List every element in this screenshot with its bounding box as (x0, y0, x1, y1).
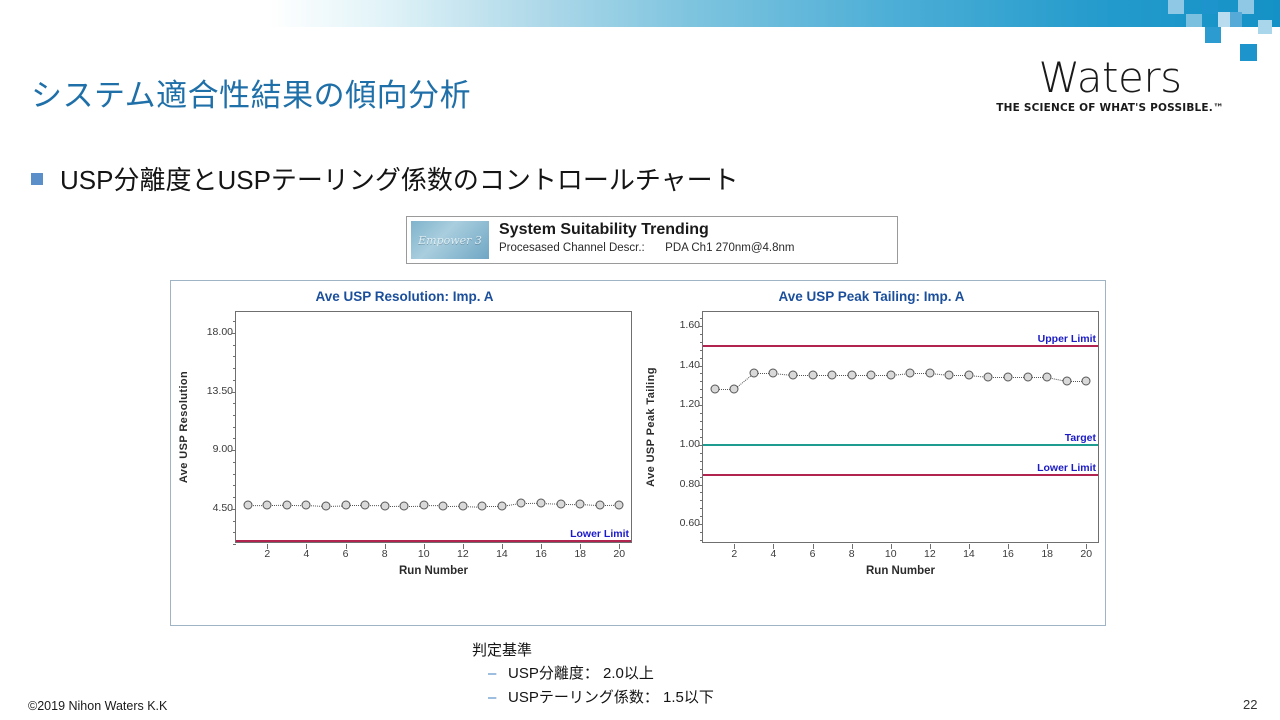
charts-container: Ave USP Resolution: Imp. A Ave USP Resol… (170, 280, 1106, 626)
y-axis-tick-mark (698, 485, 703, 486)
x-axis-tick-label: 4 (770, 548, 776, 560)
plot-area-wrapper: Ave USP Peak Tailing 0.600.801.001.201.4… (638, 311, 1105, 625)
y-axis-minor-tick (700, 461, 703, 462)
y-axis-tick-label: 1.00 (680, 438, 700, 450)
banner-pixel (1258, 20, 1272, 34)
y-axis-minor-tick (233, 462, 236, 463)
y-axis-label: Ave USP Resolution (175, 311, 193, 543)
data-point (615, 501, 624, 510)
y-axis-minor-tick (233, 532, 236, 533)
y-axis-minor-tick (233, 403, 236, 404)
report-header-text: System Suitability Trending Procesased C… (489, 217, 794, 263)
x-axis-tick-label: 20 (1080, 548, 1092, 560)
data-point (867, 371, 876, 380)
x-axis-tick-mark (969, 544, 970, 549)
x-axis-tick-mark (541, 544, 542, 549)
x-axis-tick-label: 6 (810, 548, 816, 560)
reference-line-label: Lower Limit (1037, 462, 1096, 474)
y-axis-minor-tick (700, 334, 703, 335)
data-point (321, 501, 330, 510)
x-axis-tick-label: 8 (382, 548, 388, 560)
y-axis-minor-tick (233, 345, 236, 346)
banner-pixel (1186, 14, 1202, 27)
y-axis-minor-tick (233, 427, 236, 428)
page-number: 22 (1243, 697, 1257, 712)
banner-pixel (1202, 0, 1218, 14)
dash-bullet-icon: – (488, 686, 508, 710)
y-axis-minor-tick (233, 497, 236, 498)
reference-line-lower-limit (703, 474, 1098, 476)
data-point (788, 371, 797, 380)
data-point (769, 369, 778, 378)
y-axis-minor-tick (233, 415, 236, 416)
data-point (1043, 373, 1052, 382)
banner-pixel (1168, 0, 1184, 14)
data-point (906, 369, 915, 378)
reference-line-upper-limit (703, 345, 1098, 347)
y-axis-tick-mark (231, 392, 236, 393)
plot-area-wrapper: Ave USP Resolution 4.509.0013.5018.00 Lo… (171, 311, 638, 625)
y-axis-minor-tick (700, 318, 703, 319)
x-axis-tick-label: 10 (885, 548, 897, 560)
y-axis-tick-label: 1.40 (680, 359, 700, 371)
y-axis-minor-tick (700, 342, 703, 343)
y-axis-tick-mark (698, 326, 703, 327)
data-point (282, 500, 291, 509)
x-axis-tick-mark (813, 544, 814, 549)
y-axis-tick-mark (698, 405, 703, 406)
y-axis-tick-label: 13.50 (207, 385, 233, 397)
y-axis-ticks: 0.600.801.001.201.401.60 (660, 311, 700, 543)
x-axis-tick-mark (1008, 544, 1009, 549)
y-axis-minor-tick (700, 397, 703, 398)
y-axis-minor-tick (233, 380, 236, 381)
x-axis-tick-label: 6 (343, 548, 349, 560)
data-point (419, 501, 428, 510)
y-axis-minor-tick (233, 485, 236, 486)
data-point (925, 369, 934, 378)
data-point (710, 385, 719, 394)
chart-ave-usp-peak-tailing: Ave USP Peak Tailing: Imp. A Ave USP Pea… (638, 281, 1105, 625)
reference-line-target (703, 444, 1098, 446)
y-axis-tick-label: 1.60 (680, 319, 700, 331)
data-point (517, 499, 526, 508)
data-point (1004, 373, 1013, 382)
reference-line-lower-limit (236, 540, 631, 542)
reference-line-label: Target (1065, 432, 1096, 444)
processed-channel-value: PDA Ch1 270nm@4.8nm (665, 242, 794, 254)
data-point (302, 500, 311, 509)
waters-tagline: THE SCIENCE OF WHAT'S POSSIBLE.™ (985, 102, 1235, 114)
x-axis-tick-mark (852, 544, 853, 549)
y-axis-minor-tick (700, 437, 703, 438)
y-axis-tick-mark (231, 450, 236, 451)
y-axis-minor-tick (700, 358, 703, 359)
criteria-heading: 判定基準 (472, 640, 714, 662)
x-axis-tick-label: 4 (303, 548, 309, 560)
x-axis-tick-mark (346, 544, 347, 549)
report-header-strip: Empower 3 System Suitability Trending Pr… (406, 216, 898, 264)
y-axis-minor-tick (700, 453, 703, 454)
y-axis-minor-tick (233, 544, 236, 545)
y-axis-minor-tick (700, 381, 703, 382)
empower-logo-icon: Empower 3 (411, 221, 489, 259)
x-axis-label: Run Number (235, 565, 632, 577)
y-axis-minor-tick (700, 429, 703, 430)
x-axis-tick-mark (502, 544, 503, 549)
criteria-item: – USPテーリング係数： 1.5以下 (488, 686, 714, 710)
x-axis-tick-label: 2 (731, 548, 737, 560)
data-point (361, 501, 370, 510)
y-axis-minor-tick (233, 368, 236, 369)
data-point (847, 371, 856, 380)
data-point (478, 502, 487, 511)
y-axis-minor-tick (700, 516, 703, 517)
waters-logo: Waters THE SCIENCE OF WHAT'S POSSIBLE.™ (985, 55, 1235, 114)
data-point (439, 501, 448, 510)
y-axis-minor-tick (233, 321, 236, 322)
y-axis-label: Ave USP Peak Tailing (642, 311, 660, 543)
x-axis-tick-label: 2 (264, 548, 270, 560)
data-point (886, 371, 895, 380)
plot-area: Lower Limit2468101214161820 (235, 311, 632, 543)
y-axis-tick-label: 0.80 (680, 478, 700, 490)
x-axis-tick-mark (385, 544, 386, 549)
y-axis-tick-mark (698, 524, 703, 525)
data-point (749, 369, 758, 378)
data-point (730, 385, 739, 394)
data-point (828, 371, 837, 380)
y-axis-minor-tick (700, 350, 703, 351)
report-subtitle: Procesased Channel Descr.: PDA Ch1 270nm… (499, 241, 794, 256)
data-point (497, 502, 506, 511)
y-axis-tick-mark (698, 366, 703, 367)
chart-ave-usp-resolution: Ave USP Resolution: Imp. A Ave USP Resol… (171, 281, 638, 625)
banner-pixel (1205, 27, 1221, 43)
y-axis-minor-tick (700, 540, 703, 541)
square-bullet-icon (31, 173, 43, 185)
data-point (964, 371, 973, 380)
data-point (1062, 377, 1071, 386)
x-axis-tick-label: 20 (613, 548, 625, 560)
x-axis-tick-mark (930, 544, 931, 549)
data-point (945, 371, 954, 380)
banner-pixel (1230, 12, 1242, 27)
data-point (595, 501, 604, 510)
reference-line-label: Upper Limit (1038, 333, 1096, 345)
y-axis-minor-tick (700, 389, 703, 390)
data-point (341, 501, 350, 510)
y-axis-minor-tick (700, 508, 703, 509)
banner-pixel (1218, 12, 1230, 27)
x-axis-tick-mark (734, 544, 735, 549)
x-axis-tick-mark (463, 544, 464, 549)
data-point (380, 501, 389, 510)
y-axis-ticks: 4.509.0013.5018.00 (193, 311, 233, 543)
data-point (243, 500, 252, 509)
x-axis-tick-label: 8 (849, 548, 855, 560)
y-axis-minor-tick (700, 477, 703, 478)
data-point (984, 373, 993, 382)
data-point (1082, 377, 1091, 386)
x-axis-tick-mark (306, 544, 307, 549)
x-axis-tick-mark (580, 544, 581, 549)
bullet-item: USP分離度とUSPテーリング係数のコントロールチャート (31, 160, 739, 197)
x-axis-tick-label: 14 (963, 548, 975, 560)
x-axis-tick-mark (619, 544, 620, 549)
reference-line-label: Lower Limit (570, 528, 629, 540)
criteria-item: – USP分離度： 2.0以上 (488, 662, 714, 686)
y-axis-minor-tick (233, 356, 236, 357)
y-axis-tick-label: 9.00 (213, 443, 233, 455)
top-banner (0, 0, 1280, 27)
processed-channel-label: Procesased Channel Descr.: (499, 242, 645, 254)
x-axis-tick-label: 18 (1041, 548, 1053, 560)
data-point (458, 501, 467, 510)
chart-title: Ave USP Peak Tailing: Imp. A (638, 289, 1105, 304)
waters-wordmark: Waters (985, 55, 1235, 101)
data-point (263, 500, 272, 509)
bullet-item-label: USP分離度とUSPテーリング係数のコントロールチャート (60, 160, 739, 197)
y-axis-minor-tick (700, 421, 703, 422)
report-title: System Suitability Trending (499, 220, 794, 239)
data-point (576, 499, 585, 508)
x-axis-tick-label: 18 (574, 548, 586, 560)
banner-pixel (1240, 44, 1257, 61)
y-axis-minor-tick (700, 373, 703, 374)
data-point (400, 501, 409, 510)
criteria-item-label: USP分離度： 2.0以上 (508, 662, 654, 686)
y-axis-tick-label: 1.20 (680, 398, 700, 410)
dash-bullet-icon: – (488, 662, 508, 686)
x-axis-tick-label: 16 (1002, 548, 1014, 560)
y-axis-minor-tick (700, 492, 703, 493)
y-axis-minor-tick (700, 413, 703, 414)
data-point (808, 371, 817, 380)
y-axis-tick-label: 18.00 (207, 326, 233, 338)
x-axis-tick-label: 12 (924, 548, 936, 560)
y-axis-minor-tick (700, 500, 703, 501)
x-axis-tick-mark (1086, 544, 1087, 549)
copyright-text: ©2019 Nihon Waters K.K (28, 699, 167, 713)
data-point (1023, 373, 1032, 382)
x-axis-tick-label: 16 (535, 548, 547, 560)
y-axis-tick-mark (231, 509, 236, 510)
x-axis-tick-label: 10 (418, 548, 430, 560)
x-axis-tick-mark (891, 544, 892, 549)
x-axis-tick-label: 14 (496, 548, 508, 560)
x-axis-tick-mark (424, 544, 425, 549)
data-point (556, 499, 565, 508)
x-axis-tick-mark (1047, 544, 1048, 549)
page-title: システム適合性結果の傾向分析 (31, 70, 471, 115)
y-axis-minor-tick (233, 474, 236, 475)
plot-area: Upper LimitTargetLower Limit246810121416… (702, 311, 1099, 543)
x-axis-tick-mark (267, 544, 268, 549)
x-axis-tick-label: 12 (457, 548, 469, 560)
y-axis-minor-tick (700, 532, 703, 533)
y-axis-tick-label: 0.60 (680, 517, 700, 529)
criteria-block: 判定基準 – USP分離度： 2.0以上 – USPテーリング係数： 1.5以下 (472, 640, 714, 710)
y-axis-minor-tick (700, 469, 703, 470)
y-axis-tick-label: 4.50 (213, 502, 233, 514)
y-axis-minor-tick (233, 521, 236, 522)
data-point (537, 499, 546, 508)
x-axis-tick-mark (773, 544, 774, 549)
y-axis-minor-tick (233, 438, 236, 439)
empower-logo-label: Empower 3 (418, 234, 482, 247)
chart-title: Ave USP Resolution: Imp. A (171, 289, 638, 304)
criteria-item-label: USPテーリング係数： 1.5以下 (508, 686, 714, 710)
x-axis-label: Run Number (702, 565, 1099, 577)
y-axis-tick-mark (231, 333, 236, 334)
